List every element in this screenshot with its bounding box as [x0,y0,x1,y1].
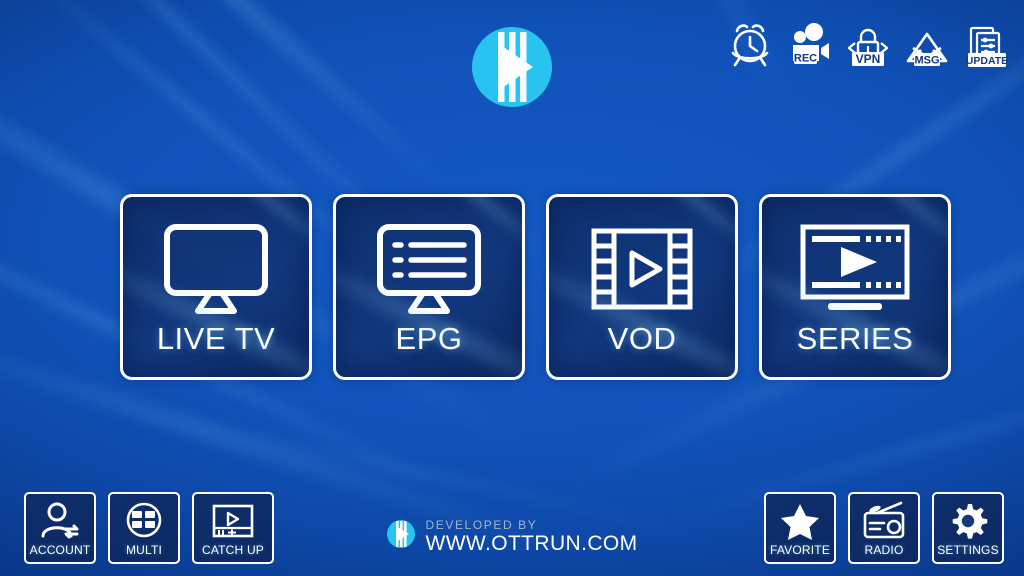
app-screen: REC VPN [0,0,1024,576]
msg-envelope-icon[interactable]: MSG [903,20,951,72]
rec-camera-icon[interactable]: REC [785,20,833,72]
svg-text:VPN: VPN [856,52,881,66]
svg-text:REC: REC [794,53,817,65]
screen-play-series-icon [794,217,916,321]
tile-vod[interactable]: VOD [546,194,738,380]
guide-list-monitor-icon [371,217,487,321]
vpn-lock-icon[interactable]: VPN [844,20,892,72]
svg-text:MSG: MSG [914,55,939,67]
app-logo [471,26,553,108]
update-document-icon[interactable]: UPDATE [962,20,1010,72]
tile-epg[interactable]: EPG [333,194,525,380]
tile-label: VOD [608,323,677,354]
developed-by-label: DEVELOPED BY [425,519,637,531]
website-label: WWW.OTTRUN.COM [425,533,637,554]
status-icon-group: REC VPN [726,20,1010,72]
main-menu: LIVE TV [120,194,951,380]
alarm-clock-icon[interactable] [726,20,774,72]
tile-label: EPG [396,323,463,354]
top-bar: REC VPN [0,0,1024,120]
svg-text:UPDATE: UPDATE [966,55,1008,67]
footer-brand: DEVELOPED BY WWW.OTTRUN.COM [0,519,1024,554]
tile-live-tv[interactable]: LIVE TV [120,194,312,380]
ottrun-small-logo [386,519,416,554]
tile-label: LIVE TV [157,323,275,354]
tv-monitor-icon [158,217,274,321]
tile-series[interactable]: SERIES [759,194,951,380]
tile-label: SERIES [797,323,914,354]
film-strip-play-icon [584,217,700,321]
